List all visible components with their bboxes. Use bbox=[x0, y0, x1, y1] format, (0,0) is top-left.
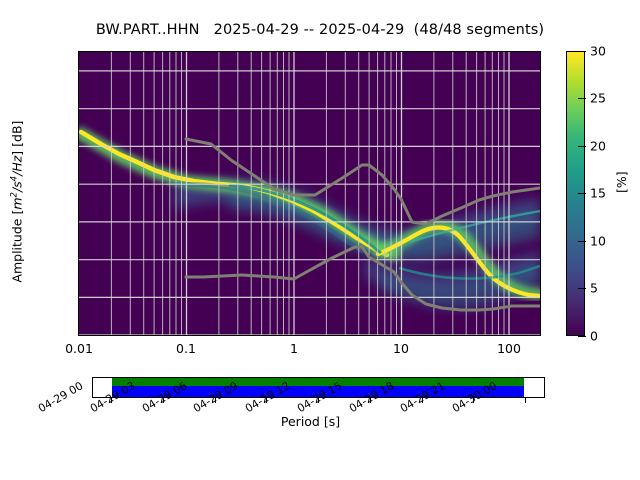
ppsd-plot-axes: Amplitude [m2/s4/Hz] [dB] Period [s] bbox=[78, 51, 541, 336]
ppsd-figure: BW.PART..HHN 2025-04-29 -- 2025-04-29 (4… bbox=[0, 0, 640, 480]
colorbar-tick-label: 0 bbox=[590, 329, 598, 344]
x-tick-label: 0.1 bbox=[156, 341, 216, 356]
ppsd-density-layer bbox=[79, 52, 540, 335]
x-tick-label: 1 bbox=[264, 341, 324, 356]
x-tick-label: 10 bbox=[371, 341, 431, 356]
y-axis-label: Amplitude [m2/s4/Hz] [dB] bbox=[9, 71, 24, 331]
colorbar-tick-label: 5 bbox=[590, 281, 598, 296]
colorbar-tick-label: 10 bbox=[590, 234, 606, 249]
x-tick-label: 0.01 bbox=[49, 341, 109, 356]
colorbar-tick-label: 15 bbox=[590, 186, 606, 201]
page-title: BW.PART..HHN 2025-04-29 -- 2025-04-29 (4… bbox=[0, 22, 640, 38]
timeline-date-label: 04-29 00 bbox=[36, 379, 85, 415]
colorbar-label: [%] bbox=[614, 171, 629, 193]
colorbar-tick-label: 20 bbox=[590, 139, 606, 154]
colorbar-tick-label: 30 bbox=[590, 44, 606, 59]
ppsd-density-svg bbox=[79, 52, 540, 335]
x-axis-label: Period [s] bbox=[79, 414, 542, 429]
colorbar-tick-label: 25 bbox=[590, 91, 606, 106]
x-tick-label: 100 bbox=[479, 341, 539, 356]
